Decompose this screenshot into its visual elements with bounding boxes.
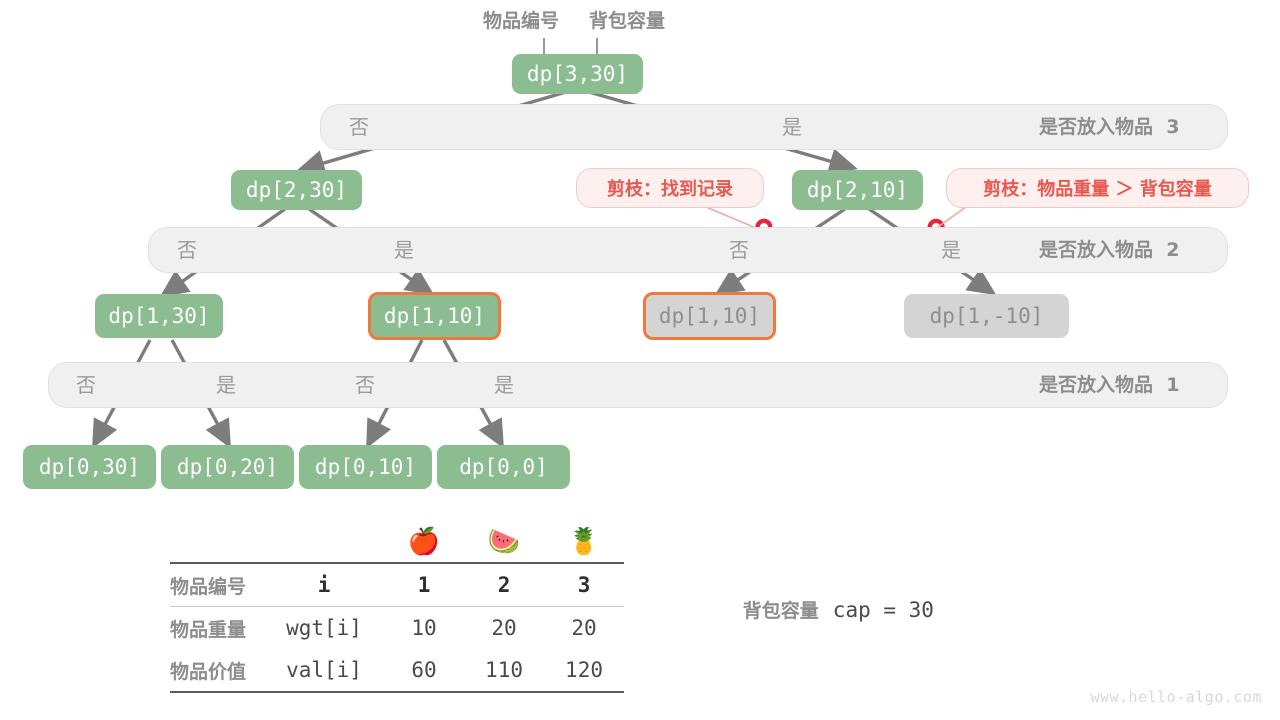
level-2-option-no-left: 否 xyxy=(177,240,197,260)
cell-value-2: 110 xyxy=(464,649,544,692)
level-3-option-yes: 是 xyxy=(782,117,802,137)
cell-index-1: 1 xyxy=(384,563,464,607)
tree-node-dp-0-10[interactable]: dp[0,10] xyxy=(299,445,432,489)
level-1-option-no-b: 否 xyxy=(355,375,375,395)
cell-value-3: 120 xyxy=(544,649,624,692)
table-row-weight: 物品重量 wgt[i] 10 20 20 xyxy=(170,607,624,650)
table-row-item-index: 物品编号 i 1 2 3 xyxy=(170,563,624,607)
row-key-wgt: wgt[i] xyxy=(264,607,384,650)
row-label-value: 物品价值 xyxy=(170,649,264,692)
row-key-val: val[i] xyxy=(264,649,384,692)
tree-node-dp-1-30[interactable]: dp[1,30] xyxy=(95,294,223,338)
watermark: www.hello-algo.com xyxy=(1090,688,1262,706)
fruit-icon-pineapple: 🍍 xyxy=(544,520,624,563)
table-row-fruits: 🍎 🍉 🍍 xyxy=(170,520,624,563)
level-3-title: 是否放入物品 3 xyxy=(1039,118,1179,137)
tree-node-dp-0-0[interactable]: dp[0,0] xyxy=(437,445,570,489)
cell-value-1: 60 xyxy=(384,649,464,692)
tree-node-dp-1-10-green[interactable]: dp[1,10] xyxy=(368,292,501,340)
fruit-icon-watermelon: 🍉 xyxy=(464,520,544,563)
level-1-option-yes-a: 是 xyxy=(216,375,236,395)
capacity-note-label: 背包容量 xyxy=(743,600,819,622)
cell-weight-3: 20 xyxy=(544,607,624,650)
callout-prune-memo: 剪枝：找到记录 xyxy=(576,168,764,208)
row-label-item-index: 物品编号 xyxy=(170,563,264,607)
cell-index-2: 2 xyxy=(464,563,544,607)
level-2-option-yes-right: 是 xyxy=(941,240,961,260)
tree-node-dp-2-10[interactable]: dp[2,10] xyxy=(792,170,923,210)
cell-weight-2: 20 xyxy=(464,607,544,650)
level-1-title: 是否放入物品 1 xyxy=(1039,376,1179,395)
tree-node-dp-3-30[interactable]: dp[3,30] xyxy=(512,54,643,94)
level-2-option-yes-left: 是 xyxy=(394,240,414,260)
cell-weight-1: 10 xyxy=(384,607,464,650)
row-key-i: i xyxy=(264,563,384,607)
item-table: 🍎 🍉 🍍 物品编号 i 1 2 3 物品重量 wgt[i] 10 20 20 … xyxy=(170,520,624,693)
fruit-row-spacer xyxy=(170,520,264,563)
table-row-value: 物品价值 val[i] 60 110 120 xyxy=(170,649,624,692)
level-2-option-no-right: 否 xyxy=(729,240,749,260)
row-label-weight: 物品重量 xyxy=(170,607,264,650)
tree-node-dp-1-10-gray[interactable]: dp[1,10] xyxy=(643,292,776,340)
level-2-title: 是否放入物品 2 xyxy=(1039,241,1179,260)
tree-node-dp-2-30[interactable]: dp[2,30] xyxy=(231,170,362,210)
tree-node-dp-0-30[interactable]: dp[0,30] xyxy=(23,445,156,489)
header-label-item-index: 物品编号 xyxy=(483,12,559,31)
header-label-bag-capacity: 背包容量 xyxy=(589,12,665,31)
capacity-note: 背包容量cap = 30 xyxy=(725,578,934,641)
callout-prune-weight: 剪枝：物品重量 ＞ 背包容量 xyxy=(946,168,1249,208)
tree-node-dp-1-minus-10[interactable]: dp[1,-10] xyxy=(904,294,1069,338)
capacity-note-value: cap = 30 xyxy=(833,598,934,622)
diagram-canvas: 物品编号 背包容量 否 是 是否放入物品 3 否 是 否 是 是否放入物品 2 … xyxy=(0,0,1280,720)
level-1-option-yes-b: 是 xyxy=(494,375,514,395)
tree-node-dp-0-20[interactable]: dp[0,20] xyxy=(161,445,294,489)
level-1-option-no-a: 否 xyxy=(76,375,96,395)
level-3-option-no: 否 xyxy=(349,117,369,137)
fruit-icon-apple: 🍎 xyxy=(384,520,464,563)
cell-index-3: 3 xyxy=(544,563,624,607)
